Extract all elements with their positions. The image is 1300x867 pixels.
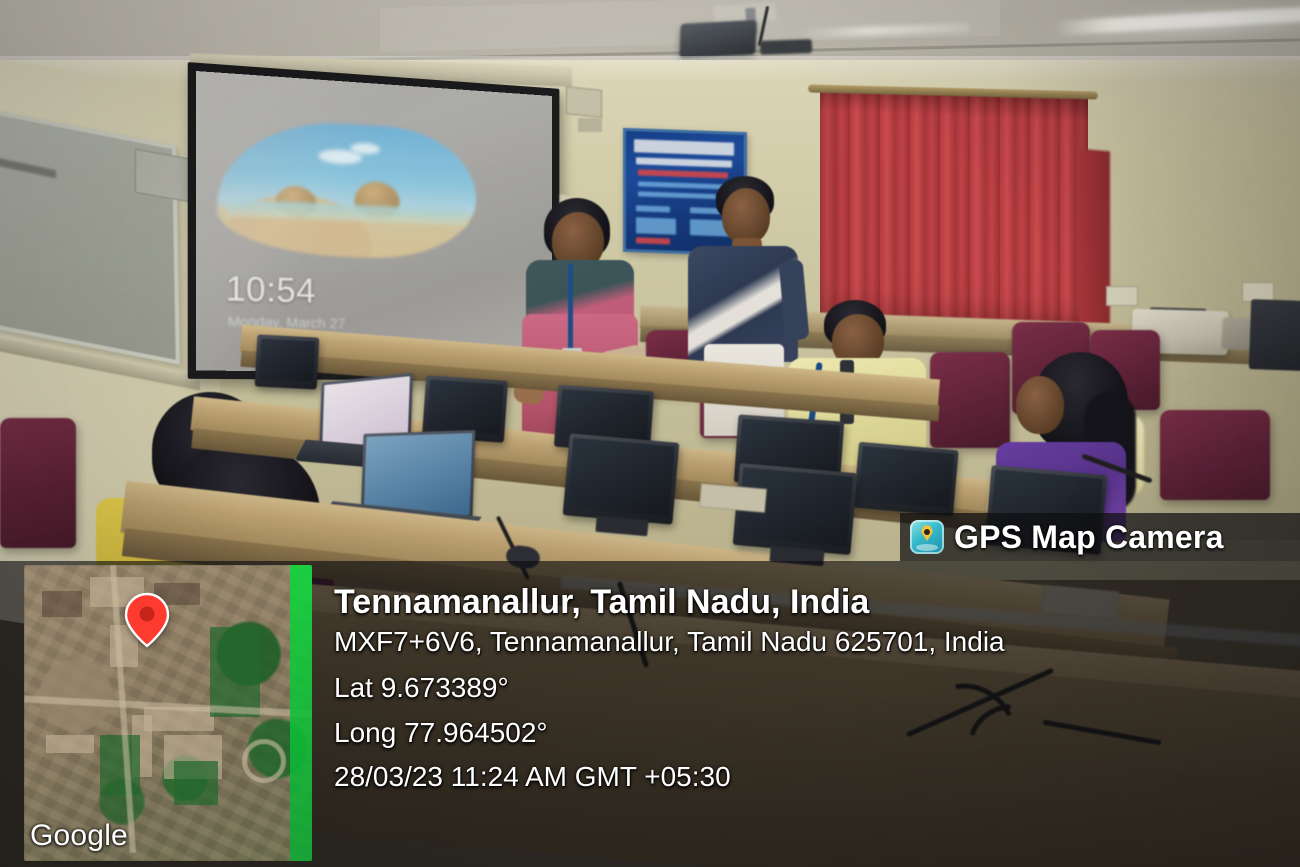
desktop-wallpaper bbox=[217, 116, 476, 261]
gps-app-header: GPS Map Camera bbox=[900, 513, 1300, 561]
monitor-screen bbox=[259, 339, 315, 382]
gps-map-camera-photo: 10:54 Monday, March 27 bbox=[0, 0, 1300, 867]
monitor bbox=[255, 334, 320, 389]
monitor bbox=[853, 442, 958, 516]
wall-mounted-box bbox=[566, 86, 602, 118]
monitor-screen bbox=[567, 438, 675, 517]
location-longitude: Long 77.964502° bbox=[334, 714, 1300, 752]
monitor-back-right bbox=[1249, 299, 1300, 371]
map-vegetation bbox=[100, 735, 140, 795]
gps-info-panel: Google Tennamanallur, Tamil Nadu, India … bbox=[0, 561, 1300, 867]
location-place: Tennamanallur, Tamil Nadu, India bbox=[334, 583, 1300, 621]
projector-bracket bbox=[760, 39, 812, 55]
monitor-screen bbox=[858, 446, 954, 508]
monitor bbox=[563, 433, 680, 524]
head bbox=[722, 188, 770, 244]
wall-socket bbox=[1106, 286, 1138, 306]
gps-app-name: GPS Map Camera bbox=[954, 519, 1224, 556]
head bbox=[1016, 376, 1064, 434]
logo-ground bbox=[916, 544, 938, 551]
office-chair bbox=[0, 418, 76, 548]
wall-mounted-box-small bbox=[578, 118, 602, 132]
map-building bbox=[42, 591, 82, 617]
whiteboard bbox=[0, 105, 180, 364]
location-latitude: Lat 9.673389° bbox=[334, 669, 1300, 707]
map-roundabout bbox=[242, 739, 286, 783]
poster-heading bbox=[634, 139, 734, 155]
map-thumbnail[interactable]: Google bbox=[24, 565, 312, 861]
ceiling-projector bbox=[679, 20, 756, 58]
map-green-edge bbox=[290, 565, 312, 861]
lanyard bbox=[568, 264, 573, 350]
gps-location-details: Tennamanallur, Tamil Nadu, India MXF7+6V… bbox=[312, 561, 1300, 867]
map-building bbox=[46, 735, 94, 753]
lockscreen-time: 10:54 bbox=[226, 269, 316, 311]
location-address: MXF7+6V6, Tennamanallur, Tamil Nadu 6257… bbox=[334, 625, 1300, 659]
capture-datetime: 28/03/23 11:24 AM GMT +05:30 bbox=[334, 760, 1300, 794]
map-vegetation bbox=[210, 627, 260, 717]
map-attribution: Google bbox=[30, 819, 128, 853]
office-chair bbox=[1160, 410, 1270, 500]
monitor-screen bbox=[426, 379, 503, 434]
map-pin-icon bbox=[118, 591, 176, 649]
poster-subheading bbox=[636, 157, 732, 167]
gps-map-pin-icon bbox=[910, 520, 944, 554]
map-vegetation bbox=[174, 761, 218, 805]
